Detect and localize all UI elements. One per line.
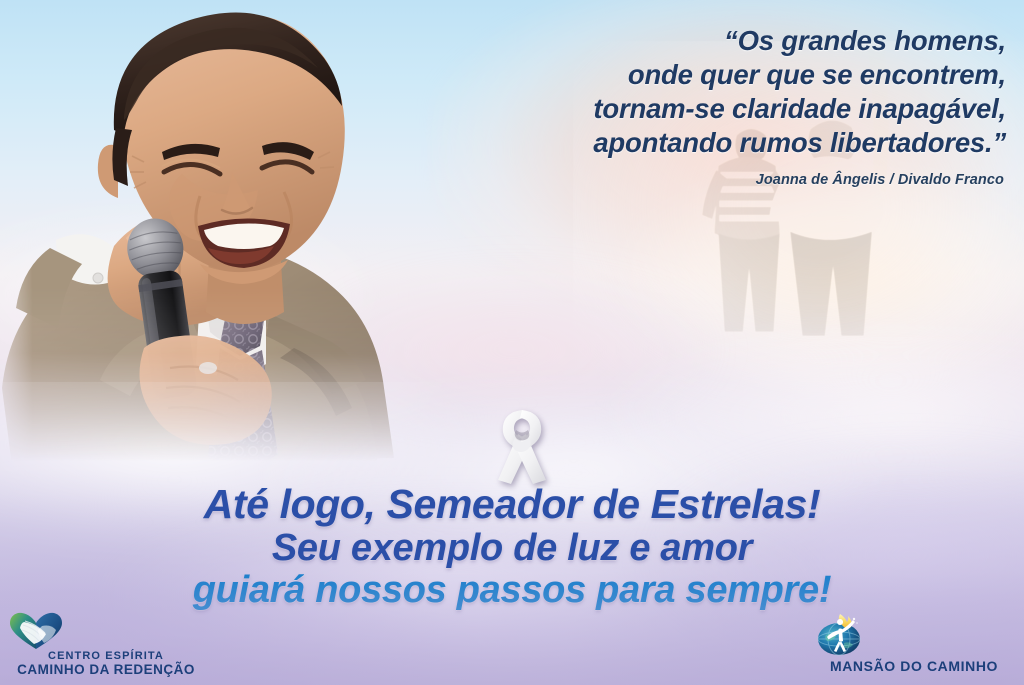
quote-line-2: onde quer que se encontrem, bbox=[446, 58, 1006, 92]
quote-line-1: “Os grandes homens, bbox=[446, 24, 1006, 58]
logo-mansao-do-caminho: MANSÃO DO CAMINHO bbox=[814, 613, 1014, 675]
quote-text: “Os grandes homens, onde quer que se enc… bbox=[446, 24, 1006, 160]
logo-left-line-2: CAMINHO DA REDENÇÃO bbox=[8, 662, 204, 677]
logo-left-line-1: CENTRO ESPÍRITA bbox=[8, 650, 204, 662]
portrait-divaldo-franco bbox=[0, 0, 474, 466]
globe-figure-flame-icon bbox=[814, 613, 1014, 657]
tribute-poster: “Os grandes homens, onde quer que se enc… bbox=[0, 0, 1024, 685]
quote-line-4: apontando rumos libertadores.” bbox=[446, 126, 1006, 160]
headline-line-1: Até logo, Semeador de Estrelas! bbox=[0, 484, 1024, 526]
quote-line-3: tornam-se claridade inapagável, bbox=[446, 92, 1006, 126]
white-ribbon-icon bbox=[491, 408, 553, 486]
hands-heart-icon bbox=[8, 612, 204, 650]
quote-attribution: Joanna de Ângelis / Divaldo Franco bbox=[444, 172, 1004, 188]
logo-right-line-1: MANSÃO DO CAMINHO bbox=[814, 659, 1014, 675]
headline-line-2: Seu exemplo de luz e amor bbox=[0, 529, 1024, 568]
logo-centro-espirita-caminho-da-redencao: CENTRO ESPÍRITA CAMINHO DA REDENÇÃO bbox=[8, 612, 204, 677]
headline-line-3: guiará nossos passos para sempre! bbox=[0, 571, 1024, 610]
tribute-headline: Até logo, Semeador de Estrelas! Seu exem… bbox=[0, 484, 1024, 609]
